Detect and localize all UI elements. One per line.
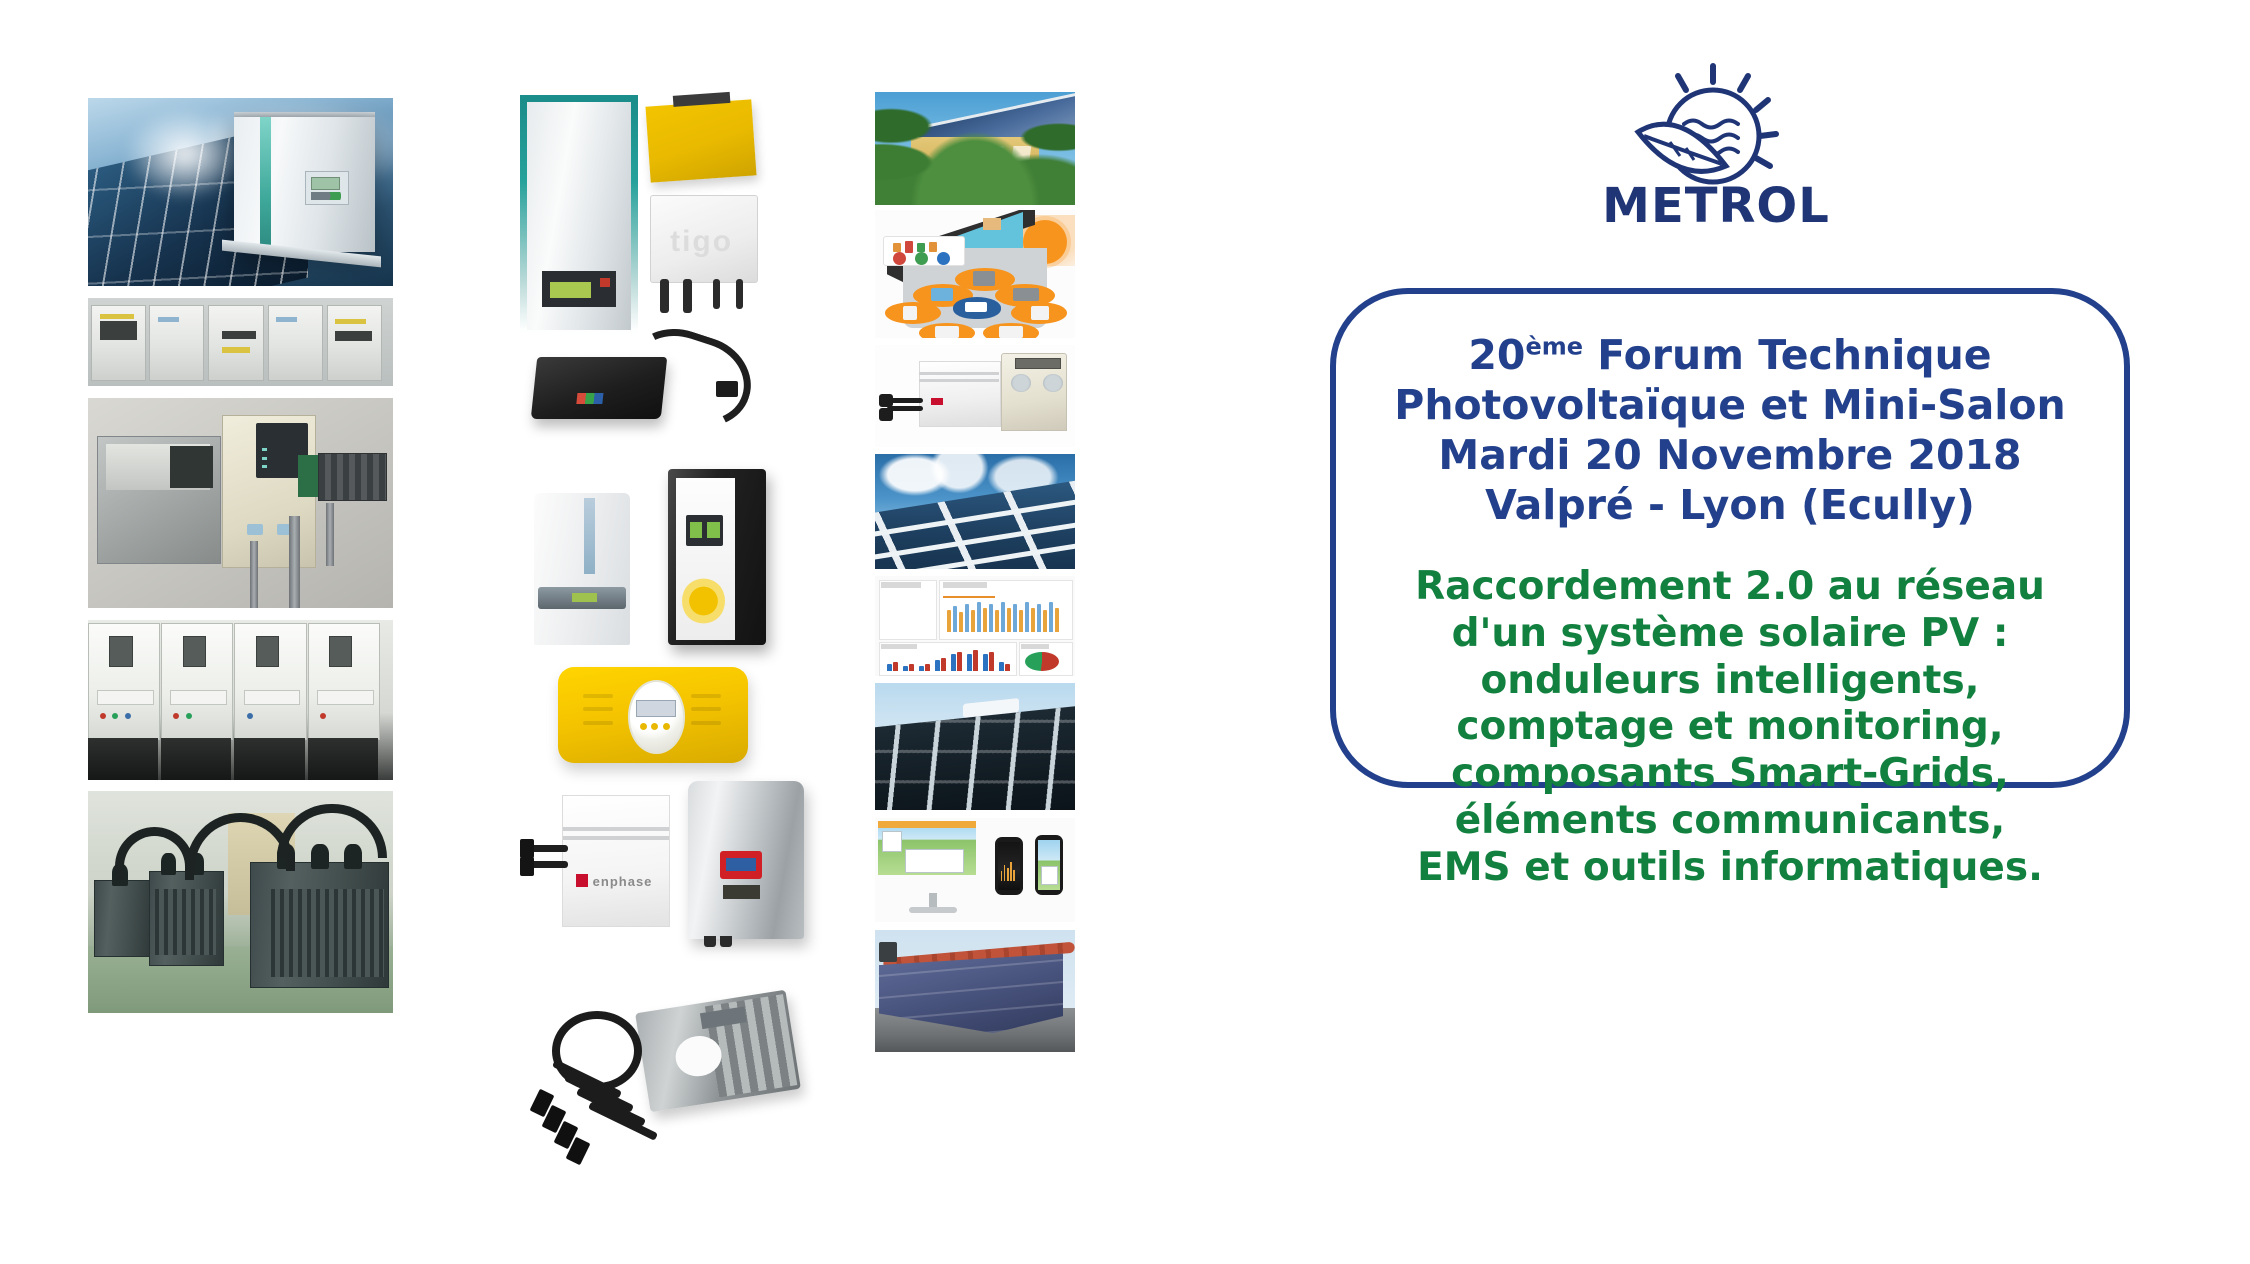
device-silver-string-inverter (520, 95, 638, 337)
bubble-glyph (973, 271, 995, 285)
sun-graphic-icon (682, 578, 725, 624)
chart-bar (887, 664, 892, 671)
panel-header (1021, 644, 1049, 649)
garden-foliage (875, 92, 1075, 205)
chart-bar (953, 606, 957, 632)
chart-bar (1043, 610, 1047, 632)
label-strip (244, 690, 301, 705)
phone-chart-bar (1007, 868, 1009, 882)
cable-compartment (308, 738, 378, 780)
edition-suffix: ème (1525, 332, 1583, 360)
inverter-accent-stripe (584, 498, 596, 574)
chart-bar (983, 654, 988, 671)
description-line: éléments communicants, (1370, 798, 2090, 845)
photo-switchgear-panels (88, 620, 393, 780)
optimizer-lead (713, 279, 720, 309)
event-description: Raccordement 2.0 au réseau d'un système … (1370, 564, 2090, 892)
meter-tag (158, 317, 179, 321)
meter-window (222, 331, 256, 339)
status-led (262, 465, 267, 468)
label-strip (170, 690, 227, 705)
legend-bar (929, 242, 937, 252)
inverter-display-disc (628, 680, 685, 753)
bubble-glyph (1013, 288, 1039, 301)
transformer-unit (94, 880, 151, 957)
desktop-monitor (875, 818, 979, 878)
indicator-led-red (100, 713, 106, 719)
photo-rooftop-solar-installation (875, 683, 1075, 810)
indicator-led-blue (125, 713, 131, 719)
description-line: onduleurs intelligents, (1370, 658, 2090, 705)
conduit-pipe (289, 516, 300, 608)
description-line: d'un système solaire PV : (1370, 611, 2090, 658)
inverter-lcd (690, 522, 703, 538)
cable-compartment (161, 738, 231, 780)
meter-label (100, 314, 134, 319)
chart-bar (925, 664, 930, 671)
vent-slot (691, 694, 721, 698)
inverter-connector-foot (720, 936, 732, 947)
bubble-glyph (999, 326, 1023, 338)
photo-monitoring-dashboard (875, 576, 1075, 676)
enclosure-band (919, 372, 999, 375)
transformer-cooling-fins (155, 889, 216, 956)
gateway-connector (716, 381, 738, 397)
phone-chart-bar (1001, 871, 1003, 882)
panel-meter (183, 636, 206, 667)
conduit-pipe (250, 541, 258, 608)
chart-bar (1007, 608, 1011, 632)
tigo-logo-text: tigo (670, 225, 733, 259)
mc4-connector (879, 394, 893, 407)
chart-bar (971, 610, 975, 632)
device-grey-microinverter (635, 990, 801, 1113)
inverter-accent-stripe (260, 117, 270, 252)
event-heading: 20ème Forum Technique Photovoltaïque et … (1370, 330, 2090, 530)
heading-line-1-rest: Forum Technique (1583, 331, 1992, 379)
legend-bar (917, 243, 925, 252)
photo-solar-array-closeup (875, 454, 1075, 569)
heading-line-3: Mardi 20 Novembre 2018 (1370, 430, 2090, 480)
chart-bar (1055, 608, 1059, 632)
description-line: EMS et outils informatiques. (1370, 845, 2090, 892)
photo-distribution-transformers (88, 791, 393, 1013)
meter-display (1015, 358, 1061, 369)
photo-smart-home-infographic (875, 210, 1075, 338)
enphase-logo-mark (931, 398, 943, 405)
description-line: comptage et monitoring, (1370, 704, 2090, 751)
mc4-connector (879, 408, 893, 421)
trend-line (943, 596, 995, 598)
conduit-pipe (326, 503, 334, 566)
panel-header (881, 582, 921, 588)
chart-bar (983, 608, 987, 632)
inverter-lcd (707, 522, 720, 538)
device-white-string-inverter (534, 493, 630, 645)
heading-line-2: Photovoltaïque et Mini-Salon (1370, 380, 2090, 430)
vent-slot (583, 707, 613, 711)
meter-terminal (1011, 374, 1031, 392)
status-led (663, 723, 670, 730)
optimizer-lead (683, 279, 692, 313)
vent-slot (583, 694, 613, 698)
chart-bar (995, 610, 999, 632)
chart-bar (977, 602, 981, 632)
inverter-status-led (600, 278, 610, 287)
meter-unit (327, 305, 382, 381)
chart-bar (973, 650, 978, 671)
legend-bar (893, 243, 901, 252)
enphase-logo-text: enphase (593, 874, 653, 889)
optimizer-lead (736, 279, 743, 309)
enclosure-band (919, 379, 999, 382)
meter-window (100, 321, 137, 340)
chart-bar (903, 666, 908, 671)
edition-number: 20 (1468, 331, 1525, 379)
status-led (262, 457, 267, 460)
vent-slot (691, 721, 721, 725)
meter-window (335, 331, 372, 341)
label-strip (317, 690, 374, 705)
metrol-wordmark: METROL (1586, 178, 1846, 234)
chart-bar (989, 604, 993, 632)
photo-wall-control-cabinets (88, 398, 393, 608)
chart-bar (989, 652, 994, 671)
label-strip (97, 690, 154, 705)
phone-chart-bar (1010, 862, 1012, 881)
chart-bar (1019, 610, 1023, 632)
legend-bar (905, 241, 913, 253)
indicator-led-blue (247, 713, 253, 719)
chart-bar (951, 654, 956, 671)
photo-tiled-roof-pv-panels (875, 930, 1075, 1052)
chart-bar (959, 612, 963, 632)
bubble-glyph (903, 306, 917, 320)
vent-slot (583, 721, 613, 725)
chart-bar (965, 604, 969, 632)
cable-compartment (234, 738, 304, 780)
phone-screen (1038, 840, 1060, 890)
device-enphase-gateway: enphase (562, 795, 670, 927)
panel-header (943, 582, 987, 588)
smartphone-light (1035, 835, 1063, 895)
panel-meter (329, 636, 352, 667)
description-line: composants Smart-Grids, (1370, 751, 2090, 798)
meter-unit (208, 305, 263, 381)
status-led (262, 448, 267, 451)
inverter-display-lcd (550, 282, 592, 298)
event-info-panel: 20ème Forum Technique Photovoltaïque et … (1330, 288, 2130, 788)
vent-slot (691, 707, 721, 711)
enclosure-band (563, 827, 669, 831)
optimizer-lead (660, 279, 669, 313)
gateway-brand-badge (577, 393, 604, 404)
device-yellow-power-optimizer (645, 99, 756, 182)
meter-label (335, 319, 366, 324)
photo-house-with-solar-roof (875, 92, 1075, 205)
photo-monitoring-devices (875, 818, 1075, 922)
transformer-cooling-fins (271, 889, 384, 978)
chart-bar (957, 652, 962, 671)
inverter-lcd (726, 858, 756, 871)
chart-bar (935, 660, 940, 671)
indicator-led-green (186, 713, 192, 719)
phone-chart-bar (1013, 870, 1015, 882)
bubble-glyph (931, 288, 953, 301)
meter-terminal (1043, 374, 1063, 392)
green-terminal-block (298, 455, 319, 497)
chart-bar (919, 666, 924, 671)
inverter-lcd (636, 700, 676, 717)
dashboard-panel (879, 580, 937, 640)
inverter-connector-foot (704, 936, 716, 947)
photo-microinverter-and-smart-meter (875, 345, 1075, 447)
roof-vent (879, 942, 897, 962)
contactor-bank (318, 453, 387, 501)
mc4-connector (520, 857, 534, 876)
chart-bar (999, 662, 1004, 671)
chart-bar (1049, 602, 1053, 632)
inverter-buttons (311, 192, 342, 200)
inverter-display (311, 177, 340, 190)
meter-label (222, 347, 249, 352)
device-black-inverter (668, 469, 766, 645)
phone-screen (998, 842, 1020, 890)
bubble-glyph (935, 326, 959, 338)
panel-header (881, 644, 917, 649)
panel-meter (256, 636, 279, 667)
app-dialog (905, 849, 964, 873)
app-toolbar (878, 821, 976, 828)
inverter-keypad (723, 885, 760, 899)
chart-bar (1025, 602, 1029, 632)
heading-line-4: Valpré - Lyon (Ecully) (1370, 480, 2090, 530)
app-sidebar (882, 831, 902, 853)
meter-tag (276, 317, 297, 321)
chart-bar (1037, 604, 1041, 632)
monitor-screen (878, 821, 976, 875)
cable-compartment (88, 738, 158, 780)
photo-central-inverter-cabinet (88, 98, 393, 286)
enclosure-band (563, 836, 669, 840)
enphase-logo-mark (576, 874, 589, 887)
monitor-base (909, 907, 957, 912)
chart-bar (893, 662, 898, 671)
chart-bar (909, 664, 914, 671)
chart-bar (947, 610, 951, 632)
chart-bar (1031, 608, 1035, 632)
device-yellow-sma-inverter (558, 667, 748, 763)
cloud-glyph (965, 302, 987, 312)
indicator-led-red (320, 713, 326, 719)
panel-meter (109, 636, 132, 667)
cabinet-button (247, 524, 264, 535)
mc4-connector (520, 839, 534, 858)
optimizer-heatsink (672, 92, 730, 107)
phone-chart-bar (1004, 865, 1006, 881)
chart-bar (1001, 602, 1005, 632)
status-led (640, 723, 647, 730)
pie-chart (1025, 652, 1059, 671)
description-line: Raccordement 2.0 au réseau (1370, 564, 2090, 611)
inverter-lcd (572, 593, 597, 602)
bubble-glyph (1031, 306, 1049, 320)
chart-bar (941, 658, 946, 671)
chart-bar (1005, 664, 1010, 671)
status-led (651, 723, 658, 730)
chart-bar (967, 654, 972, 671)
photo-meter-row (88, 298, 393, 386)
sun-glare (125, 109, 245, 199)
grey-cabinet-vent (170, 446, 213, 488)
device-grey-string-inverter (688, 781, 804, 939)
smartphone-dark (995, 837, 1023, 895)
phone-app-card (1041, 866, 1059, 885)
chimney (983, 218, 1001, 231)
device-tigo-optimizer: tigo (650, 195, 758, 283)
chart-bar (1013, 604, 1017, 632)
heading-line-1: 20ème Forum Technique (1370, 330, 2090, 380)
